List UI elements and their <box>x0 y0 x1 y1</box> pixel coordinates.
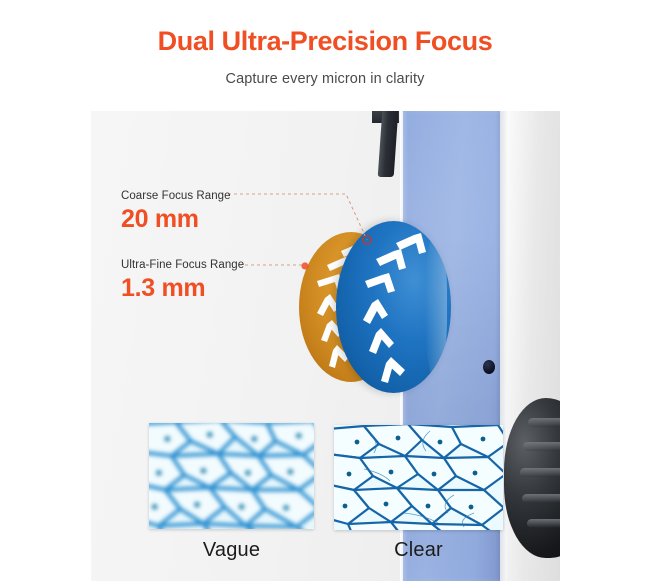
cell-pattern-sharp <box>334 425 503 530</box>
product-feature-page: Dual Ultra-Precision Focus Capture every… <box>0 0 650 581</box>
coarse-focus-knob <box>336 221 451 393</box>
callout-coarse: Coarse Focus Range 20 mm <box>121 190 231 232</box>
sample-image-vague <box>149 423 314 529</box>
page-subtitle: Capture every micron in clarity <box>0 71 650 87</box>
callout-ultrafine-value: 1.3 mm <box>121 275 244 301</box>
header: Dual Ultra-Precision Focus Capture every… <box>0 0 650 87</box>
sample-image-clear <box>334 425 503 530</box>
callout-ultrafine: Ultra-Fine Focus Range 1.3 mm <box>121 259 244 301</box>
callout-coarse-caption: Coarse Focus Range <box>121 190 231 202</box>
callout-ultrafine-caption: Ultra-Fine Focus Range <box>121 259 244 271</box>
cell-pattern-blurred <box>149 423 314 529</box>
page-title: Dual Ultra-Precision Focus <box>0 28 650 55</box>
arm-screw-lower <box>483 360 495 374</box>
coarse-knob-highlight <box>425 231 447 381</box>
product-photo-panel: Coarse Focus Range 20 mm Ultra-Fine Focu… <box>91 111 560 581</box>
sample-caption-vague: Vague <box>149 539 314 562</box>
sample-caption-clear: Clear <box>334 539 503 562</box>
callout-coarse-value: 20 mm <box>121 206 231 232</box>
